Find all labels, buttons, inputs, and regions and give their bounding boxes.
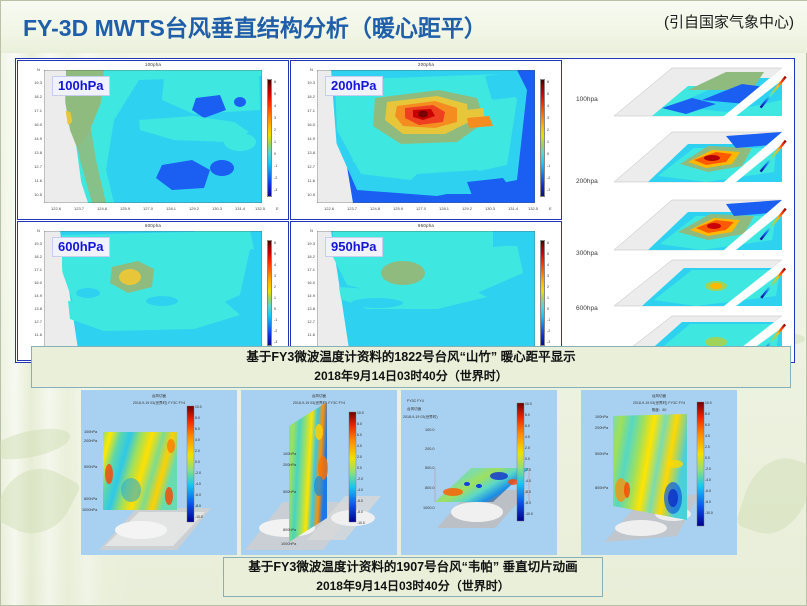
pressure-label: 500hPa (84, 465, 97, 469)
colorbar-tick: 0.0 (195, 460, 200, 464)
colorbar-tick: -3 (547, 340, 550, 344)
y-tick: 18.2 (22, 254, 42, 259)
colorbar-tick: 3 (274, 274, 276, 278)
colorbar-tick: 6.0 (195, 427, 200, 431)
y-axis-unit: N (37, 228, 40, 233)
y-tick: 16.0 (295, 280, 315, 285)
x-axis-unit: E (276, 206, 279, 211)
colorbar-tick: 6 (274, 80, 276, 84)
colorbar-tick: 0.0 (525, 457, 530, 461)
y-tick: 17.1 (22, 108, 42, 113)
panel-100hpa-badge: 100hPa (52, 76, 110, 96)
colorbar-tick: 4.0 (705, 434, 710, 438)
x-tick: 123.7 (74, 206, 84, 211)
y-tick: 13.8 (22, 306, 42, 311)
colorbar-tick: 2.0 (525, 446, 530, 450)
colorbar-tick: 6.0 (525, 424, 530, 428)
caption-typhoon-mangkhut: 基于FY3微波温度计资料的1822号台风“山竹” 暖心距平显示 2018年9月1… (31, 346, 791, 388)
panel-950hpa[interactable]: 950pha 950hPa N 19.3 18.2 17.1 16 (290, 221, 562, 361)
colorbar-tick: 4 (274, 104, 276, 108)
colorbar-tick: 2.0 (357, 455, 362, 459)
y-tick: 16.0 (295, 122, 315, 127)
y-tick: 12.7 (295, 319, 315, 324)
colorbar-tick: -2 (547, 176, 550, 180)
panel-200hpa-badge: 200hPa (325, 76, 383, 96)
colorbar-tick: -2 (274, 329, 277, 333)
x-tick: 128.1 (439, 206, 449, 211)
pressure-label: 800.0 (425, 486, 435, 490)
y-tick: 12.7 (22, 164, 42, 169)
x-tick: 128.1 (166, 206, 176, 211)
pressure-label: 100.0 (425, 428, 435, 432)
pressure-label: 100hPa (595, 415, 608, 419)
y-axis-unit: N (310, 67, 313, 72)
colorbar-tick: 4.0 (195, 438, 200, 442)
colorbar-tick: -4.0 (357, 488, 363, 492)
upper-figure-block: 100pha (15, 58, 795, 363)
caption-typhoon-wipha: 基于FY3微波温度计资料的1907号台风“韦帕” 垂直切片动画 2018年9月1… (223, 557, 603, 597)
bottom-panel-3[interactable]: FY3C FY4 台风切面 2018-9-19 03(世界时) (401, 390, 557, 555)
colorbar-tick: 2.0 (195, 449, 200, 453)
y-tick: 13.8 (22, 150, 42, 155)
colorbar-tick: -6.0 (357, 499, 363, 503)
y-tick: 16.0 (22, 280, 42, 285)
colorbar-tick: -10.0 (705, 511, 713, 515)
colorbar-tick: -1 (274, 318, 277, 322)
stack-layers-svg (576, 60, 794, 361)
colorbar-tick: -3 (274, 340, 277, 344)
x-tick: 122.6 (51, 206, 61, 211)
colorbar-tick: 10.0 (357, 411, 364, 415)
colorbar-100hpa (267, 79, 272, 197)
x-tick: 127.0 (416, 206, 426, 211)
slide-header: FY-3D MWTS台风垂直结构分析（暖心距平） (引自国家气象中心) (1, 1, 807, 53)
panel-100hpa[interactable]: 100pha (17, 60, 289, 220)
colorbar-tick: -1 (547, 164, 550, 168)
colorbar-tick: -2 (547, 329, 550, 333)
y-tick: 19.3 (295, 80, 315, 85)
vertical-slice-svg-1 (81, 390, 237, 555)
colorbar-tick: -6.0 (705, 489, 711, 493)
x-tick: 125.9 (393, 206, 403, 211)
x-tick: 122.6 (324, 206, 334, 211)
stack-layer-600hpa (614, 260, 790, 306)
panel-600hpa[interactable]: 600pha 600hPa N 19.3 18 (17, 221, 289, 361)
pressure-label: 200.0 (425, 447, 435, 451)
horizontal-slice-svg-3 (401, 390, 557, 555)
colorbar-tick: -8.0 (705, 500, 711, 504)
y-tick: 11.6 (295, 332, 315, 337)
y-tick: 19.3 (22, 80, 42, 85)
y-tick: 11.6 (295, 178, 315, 183)
panel-200hpa[interactable]: 200pha (290, 60, 562, 220)
pressure-label: 100hPa (283, 452, 296, 456)
vertical-stack-figure[interactable]: 100hpa 200hpa 300hpa 600hpa (576, 60, 794, 361)
pressure-label: 200hPa (595, 426, 608, 430)
colorbar-tick: 5 (547, 92, 549, 96)
colorbar-tick: 10.0 (195, 405, 202, 409)
colorbar-tick: -2.0 (357, 477, 363, 481)
pressure-label: 500hPa (283, 490, 296, 494)
pressure-label: 1000hPa (281, 542, 296, 546)
bottom-panel-4[interactable]: 台风切面 2018-9-19 03(世界时) FY3C FY4 角度：60 (581, 390, 737, 555)
colorbar-tick: -8.0 (195, 504, 201, 508)
pressure-label: 800hPa (84, 497, 97, 501)
y-tick: 10.5 (22, 192, 42, 197)
colorbar-tick: 6 (547, 80, 549, 84)
caption1-line1: 基于FY3微波温度计资料的1822号台风“山竹” 暖心距平显示 (32, 348, 790, 367)
y-tick: 18.2 (295, 254, 315, 259)
colorbar-tick: 8.0 (357, 422, 362, 426)
y-tick: 14.9 (295, 293, 315, 298)
panel-600hpa-title: 600pha (18, 223, 288, 228)
colorbar-tick: 5 (547, 252, 549, 256)
x-tick: 131.4 (235, 206, 245, 211)
y-tick: 16.0 (22, 122, 42, 127)
colorbar-tick: -6.0 (195, 493, 201, 497)
pressure-label: 800hPa (595, 486, 608, 490)
colorbar-tick: 4 (274, 263, 276, 267)
pressure-label: 500.0 (425, 466, 435, 470)
colorbar-tick: -6.0 (525, 490, 531, 494)
colorbar-tick: -2.0 (705, 467, 711, 471)
colorbar-tick: -3 (274, 188, 277, 192)
vertical-slice-svg-2 (241, 390, 397, 555)
colorbar-tick: -8.0 (357, 510, 363, 514)
colorbar-tick: 8.0 (705, 412, 710, 416)
colorbar-tick: -2 (274, 176, 277, 180)
y-tick: 19.3 (22, 241, 42, 246)
panel-950hpa-title: 950pha (291, 223, 561, 228)
colorbar-950hpa (540, 240, 545, 346)
leaf-decoration (0, 455, 82, 548)
x-tick: 125.9 (120, 206, 130, 211)
colorbar-tick: 2 (274, 128, 276, 132)
x-tick: 124.8 (97, 206, 107, 211)
colorbar-tick: 0.0 (705, 456, 710, 460)
y-tick: 18.2 (295, 94, 315, 99)
pressure-label: 200hPa (283, 463, 296, 467)
colorbar-tick: -3 (547, 188, 550, 192)
colorbar-tick: -8.0 (525, 501, 531, 505)
colorbar-tick: 2 (547, 285, 549, 289)
colorbar-tick: 2 (547, 128, 549, 132)
colorbar-tick: 1 (547, 296, 549, 300)
leaf-decoration (735, 449, 807, 544)
y-tick: 14.9 (22, 293, 42, 298)
pressure-label: 800hPa (283, 528, 296, 532)
y-tick: 17.1 (22, 267, 42, 272)
x-tick: 130.3 (485, 206, 495, 211)
pressure-label: 1000.0 (423, 506, 435, 510)
colorbar-tick: 8.0 (195, 416, 200, 420)
pressure-label: 200hPa (84, 439, 97, 443)
bottom-panel-2[interactable]: 台风切面 2018-9-19 03(世界时) FY3C FY4 100hPa (241, 390, 397, 555)
colorbar-tick: 3 (547, 274, 549, 278)
colorbar-tick: -10.0 (357, 521, 365, 525)
y-tick: 13.8 (295, 150, 315, 155)
panel-950hpa-badge: 950hPa (325, 237, 383, 257)
x-tick: 130.3 (212, 206, 222, 211)
colorbar-tick: -2.0 (525, 468, 531, 472)
y-tick: 13.8 (295, 306, 315, 311)
y-tick: 17.1 (295, 108, 315, 113)
colorbar-tick: 0 (547, 152, 549, 156)
colorbar-tick: 6.0 (357, 433, 362, 437)
colorbar-tick: 6 (547, 241, 549, 245)
colorbar-tick: 0.0 (357, 466, 362, 470)
y-tick: 18.2 (22, 94, 42, 99)
y-tick: 11.6 (22, 178, 42, 183)
colorbar-tick: -4.0 (195, 482, 201, 486)
pressure-label: 500hPa (595, 452, 608, 456)
colorbar-tick: 2.0 (705, 445, 710, 449)
colorbar-tick: 1 (547, 140, 549, 144)
colorbar-tick: 0 (547, 307, 549, 311)
colorbar-tick: 5 (274, 252, 276, 256)
slide-canvas: FY-3D MWTS台风垂直结构分析（暖心距平） (引自国家气象中心) 100p… (0, 0, 807, 606)
x-tick: 124.8 (370, 206, 380, 211)
x-tick: 123.7 (347, 206, 357, 211)
colorbar-tick: -10.0 (525, 512, 533, 516)
colorbar-tick: 4 (547, 263, 549, 267)
colorbar-tick: 3 (274, 116, 276, 120)
panel-200hpa-title: 200pha (291, 62, 561, 67)
x-tick: 131.4 (508, 206, 518, 211)
stack-layer-100hpa (614, 68, 790, 116)
source-credit: (引自国家气象中心) (664, 11, 794, 32)
x-tick: 129.2 (189, 206, 199, 211)
x-tick: 129.2 (462, 206, 472, 211)
y-axis-unit: N (37, 67, 40, 72)
colorbar-tick: 10.0 (705, 401, 712, 405)
colorbar-tick: -4.0 (525, 479, 531, 483)
colorbar-tick: 4 (547, 104, 549, 108)
y-tick: 14.9 (295, 136, 315, 141)
colorbar-tick: 1 (274, 140, 276, 144)
panel-600hpa-badge: 600hPa (52, 237, 110, 257)
caption1-line2: 2018年9月14日03时40分（世界时） (32, 367, 790, 386)
x-tick: 127.0 (143, 206, 153, 211)
y-tick: 12.7 (295, 164, 315, 169)
colorbar-tick: -10.0 (195, 515, 203, 519)
bottom-panel-1[interactable]: 台风切面 2018-9-19 03(世界时) FY3C FY4 (81, 390, 237, 555)
colorbar-tick: 10.0 (525, 402, 532, 406)
y-tick: 11.6 (22, 332, 42, 337)
stack-layer-200hpa (614, 132, 790, 182)
colorbar-tick: -1 (547, 318, 550, 322)
colorbar-600hpa (267, 240, 272, 346)
page-title: FY-3D MWTS台风垂直结构分析（暖心距平） (23, 9, 487, 43)
y-tick: 14.9 (22, 136, 42, 141)
x-axis-unit: E (549, 206, 552, 211)
y-tick: 17.1 (295, 267, 315, 272)
colorbar-tick: 6.0 (705, 423, 710, 427)
pressure-label: 100hPa (84, 430, 97, 434)
x-tick: 132.5 (255, 206, 265, 211)
y-axis-unit: N (310, 228, 313, 233)
colorbar-tick: 2 (274, 285, 276, 289)
colorbar-tick: 6 (274, 241, 276, 245)
y-tick: 12.7 (22, 319, 42, 324)
panel-100hpa-title: 100pha (18, 62, 288, 67)
colorbar-tick: 4.0 (525, 435, 530, 439)
colorbar-tick: -4.0 (705, 478, 711, 482)
colorbar-tick: 8.0 (525, 413, 530, 417)
x-tick: 132.5 (528, 206, 538, 211)
pressure-label: 1000hPa (82, 508, 97, 512)
colorbar-tick: 3 (547, 116, 549, 120)
caption2-line2: 2018年9月14日03时40分（世界时） (224, 577, 602, 596)
colorbar-tick: 1 (274, 296, 276, 300)
caption2-line1: 基于FY3微波温度计资料的1907号台风“韦帕” 垂直切片动画 (224, 558, 602, 577)
colorbar-tick: -1 (274, 164, 277, 168)
colorbar-200hpa (540, 79, 545, 197)
leaf-decoration (0, 423, 73, 465)
stack-layer-300hpa (614, 200, 790, 250)
colorbar-tick: 4.0 (357, 444, 362, 448)
y-tick: 10.5 (295, 192, 315, 197)
colorbar-tick: -2.0 (195, 471, 201, 475)
y-tick: 19.3 (295, 241, 315, 246)
colorbar-tick: 0 (274, 152, 276, 156)
colorbar-tick: 0 (274, 307, 276, 311)
colorbar-tick: 5 (274, 92, 276, 96)
